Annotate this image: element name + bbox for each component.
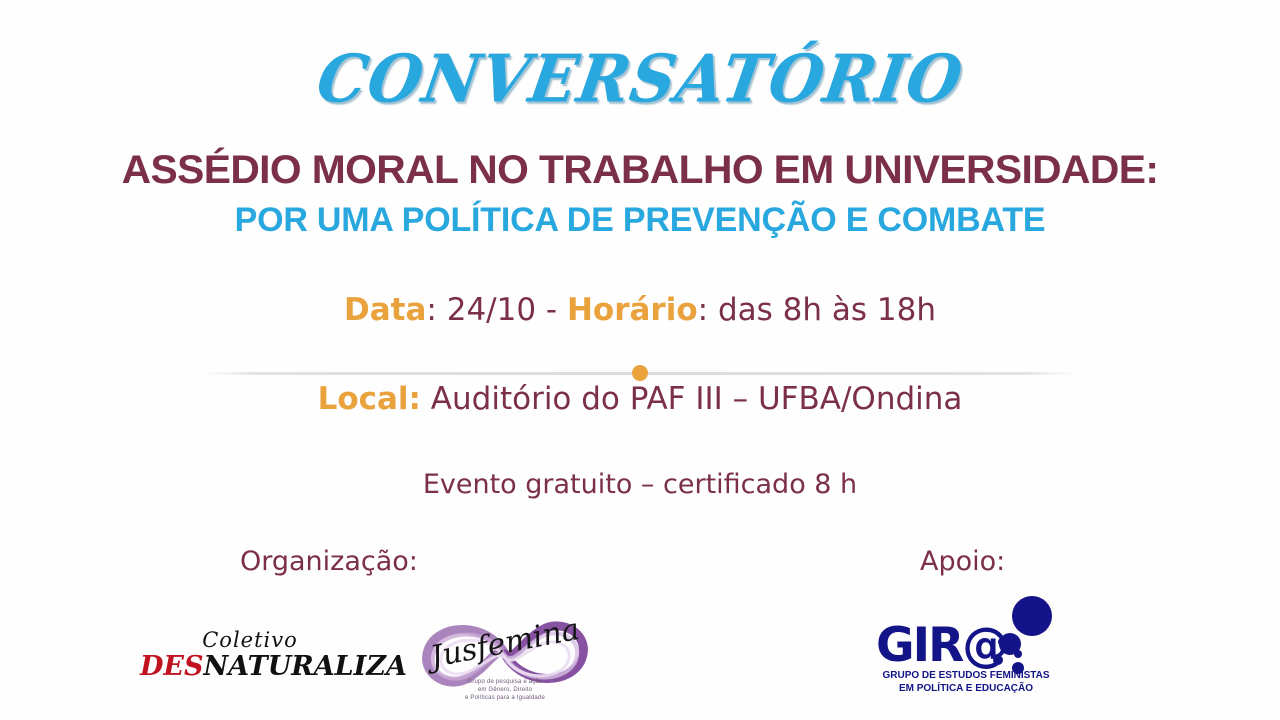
logo-coletivo-desnaturaliza: Coletivo DESNATURALIZA [140, 630, 360, 680]
desnaturaliza-prefix: DES [140, 651, 204, 682]
free-event-line: Evento gratuito – certificado 8 h [0, 469, 1280, 500]
time-label: Horário [567, 292, 698, 328]
logo-jusfemina: Jusfemina Grupo de pesquisa e ação em Gê… [400, 606, 610, 716]
poster-title-container: CONVERSATÓRIO [0, 48, 1280, 110]
date-time-line: Data: 24/10 - Horário: das 8h às 18h [0, 292, 1280, 328]
place-line: Local: Auditório do PAF III – UFBA/Ondin… [0, 381, 1280, 417]
time-value: das 8h às 18h [718, 292, 936, 328]
support-label: Apoio: [920, 546, 1005, 577]
event-poster: CONVERSATÓRIO ASSÉDIO MORAL NO TRABALHO … [0, 0, 1280, 720]
organization-label: Organização: [240, 546, 418, 577]
jusfemina-subtitle: Grupo de pesquisa e ação em Gênero, Dire… [400, 678, 610, 702]
place-value: Auditório do PAF III – UFBA/Ondina [421, 381, 962, 417]
poster-heading-secondary: POR UMA POLÍTICA DE PREVENÇÃO E COMBATE [0, 201, 1280, 240]
logo-gira: GIR@ GRUPO DE ESTUDOS FEMINISTAS EM POLÍ… [866, 596, 1066, 706]
jusfemina-subtitle-line3: e Políticas para a Igualdade [400, 694, 610, 702]
date-value: 24/10 [447, 292, 536, 328]
date-separator: : [426, 292, 446, 328]
jusfemina-subtitle-line1: Grupo de pesquisa e ação [400, 678, 610, 686]
jusfemina-subtitle-line2: em Gênero, Direito [400, 686, 610, 694]
section-divider [205, 365, 1075, 381]
gira-subtitle: GRUPO DE ESTUDOS FEMINISTAS EM POLÍTICA … [866, 670, 1066, 695]
date-time-divider-text: - [536, 292, 567, 328]
gira-wordmark: GIR@ [876, 622, 1007, 669]
desnaturaliza-line1: Coletivo [140, 630, 360, 651]
divider-dot-icon [632, 365, 648, 381]
gira-subtitle-line1: GRUPO DE ESTUDOS FEMINISTAS [866, 670, 1066, 683]
desnaturaliza-suffix: NATURALIZA [204, 651, 407, 682]
poster-title: CONVERSATÓRIO [313, 46, 968, 112]
time-separator: : [698, 292, 718, 328]
poster-heading-primary: ASSÉDIO MORAL NO TRABALHO EM UNIVERSIDAD… [0, 148, 1280, 193]
desnaturaliza-line2: DESNATURALIZA [140, 653, 360, 680]
date-label: Data [344, 292, 426, 328]
gira-subtitle-line2: EM POLÍTICA E EDUCAÇÃO [866, 683, 1066, 696]
place-label: Local: [318, 381, 421, 417]
